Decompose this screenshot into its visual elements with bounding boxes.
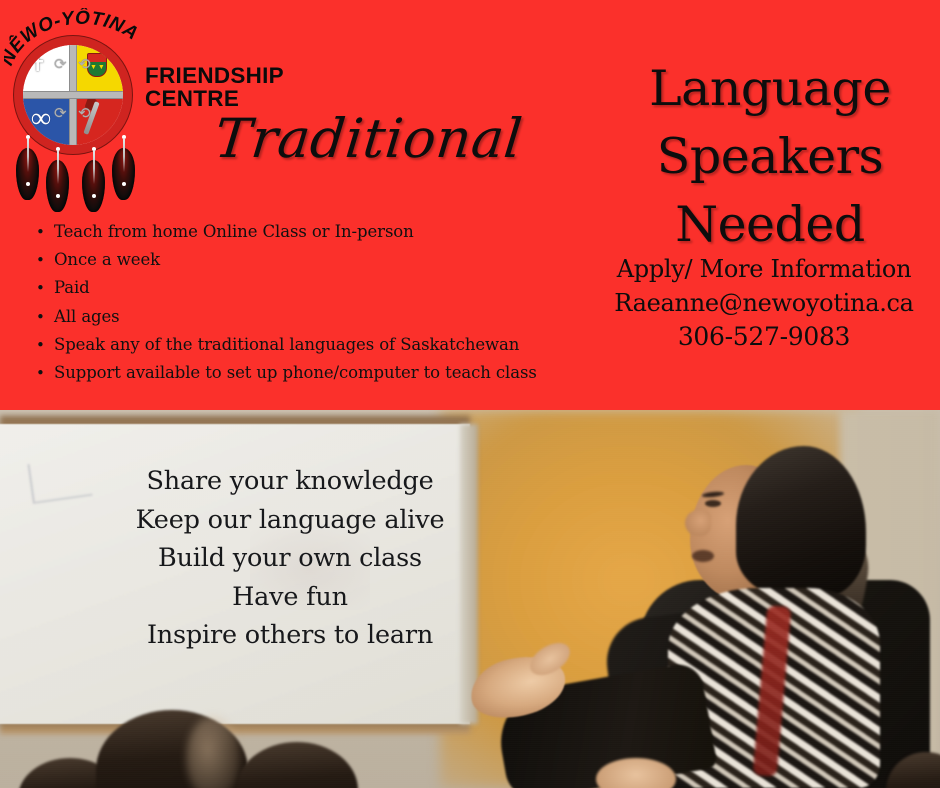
main-headline: Language Speakers Needed [600, 55, 940, 259]
wheel-cross-horizontal [23, 91, 123, 99]
speaker-nose [685, 510, 711, 536]
headline-line-1: Language [600, 55, 940, 123]
feather-cluster [4, 146, 156, 212]
feather-quill [93, 150, 95, 184]
feather-bead [92, 194, 96, 198]
details-bullet-list: Teach from home Online Class or In-perso… [36, 218, 596, 387]
speaker-hair [736, 446, 866, 598]
overlay-line-2: Keep our language alive [40, 501, 540, 540]
feather-icon [46, 160, 69, 212]
contact-email[interactable]: Raeanne@newoyotina.ca [588, 286, 940, 320]
speaker-eye [705, 500, 721, 507]
organization-name-line1: FRIENDSHIP [145, 64, 284, 87]
list-item: Teach from home Online Class or In-perso… [36, 218, 596, 246]
overlay-line-3: Build your own class [40, 539, 540, 578]
list-item: Once a week [36, 246, 596, 274]
top-red-panel: NÊWO-YÔTINA 🕇 ▼▼▼ ∞ [0, 0, 940, 410]
traditional-script-heading: Traditional [212, 112, 525, 166]
list-item: Paid [36, 274, 596, 302]
overlay-line-5: Inspire others to learn [40, 616, 540, 655]
poster-root: NÊWO-YÔTINA 🕇 ▼▼▼ ∞ [0, 0, 940, 788]
medicine-wheel-inner: 🕇 ▼▼▼ ∞ ⟳ ⟲ ⟳ ⟲ [23, 45, 123, 145]
feather-quill [123, 138, 125, 172]
feather-bead [26, 182, 30, 186]
feather-icon [82, 160, 105, 212]
list-item: Support available to set up phone/comput… [36, 359, 596, 387]
classroom-photo: Share your knowledge Keep our language a… [0, 410, 940, 788]
speaker-mouth [692, 550, 714, 562]
feather-bead [56, 194, 60, 198]
infinity-metis-icon: ∞ [31, 105, 51, 133]
feather-bead [122, 182, 126, 186]
scroll-flourish-icon: ⟳ [54, 58, 67, 73]
scroll-flourish-icon: ⟲ [78, 107, 91, 122]
feather-quill [27, 138, 29, 172]
overlay-line-1: Share your knowledge [40, 462, 540, 501]
feather-quill [57, 150, 59, 184]
medicine-wheel-icon: 🕇 ▼▼▼ ∞ ⟳ ⟲ ⟳ ⟲ [14, 36, 132, 154]
organization-logo: NÊWO-YÔTINA 🕇 ▼▼▼ ∞ [4, 8, 156, 208]
headline-line-2: Speakers [600, 123, 940, 191]
headline-line-3: Needed [600, 191, 940, 259]
shield-sheaves: ▼▼▼ [90, 64, 107, 70]
contact-block: Apply/ More Information Raeanne@newoyoti… [588, 252, 940, 354]
dove-icon: 🕇 [31, 53, 44, 75]
organization-name: FRIENDSHIP CENTRE [145, 64, 284, 110]
scroll-flourish-icon: ⟳ [54, 107, 67, 122]
feather-icon [112, 148, 135, 200]
feather-icon [16, 148, 39, 200]
scroll-flourish-icon: ⟲ [78, 58, 91, 73]
list-item: Speak any of the traditional languages o… [36, 331, 596, 359]
overlay-line-4: Have fun [40, 578, 540, 617]
apply-label: Apply/ More Information [588, 252, 940, 286]
contact-phone[interactable]: 306-527-9083 [588, 320, 940, 354]
photo-overlay-text: Share your knowledge Keep our language a… [40, 462, 540, 655]
list-item: All ages [36, 303, 596, 331]
